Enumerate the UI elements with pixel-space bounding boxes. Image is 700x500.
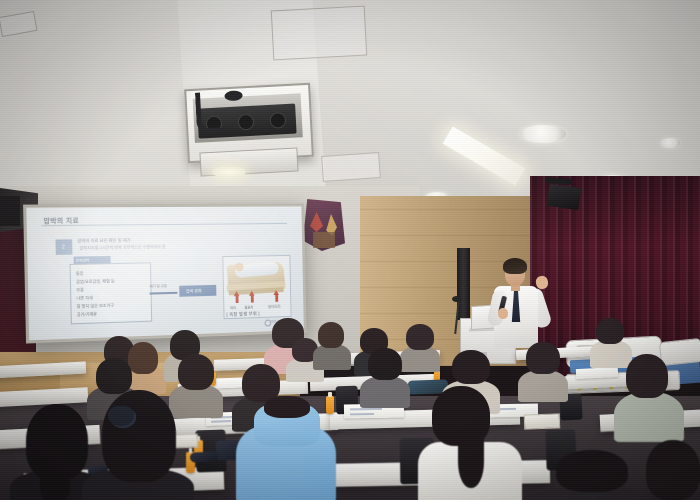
presenter-hair <box>503 258 527 274</box>
projector-cable <box>195 91 226 133</box>
microphone-icon <box>452 296 461 302</box>
wall-speaker-right-icon <box>547 184 582 210</box>
presenter-mic-hand <box>498 308 508 319</box>
access-panel <box>321 152 381 182</box>
lecture-hall-photo: 압박의 치료 2 압박의 치료 요인 확인 및 제거 압박지속을 2시간씩 반복… <box>0 0 700 500</box>
projection-screen-surface: 압박의 치료 2 압박의 치료 요인 확인 및 제거 압박지속을 2시간씩 반복… <box>26 206 304 340</box>
wall-decoration-detail <box>313 232 335 248</box>
bed-footboard <box>659 338 700 366</box>
column-speaker <box>457 248 470 320</box>
downlight <box>520 125 566 143</box>
ponytail <box>458 434 484 488</box>
screen-light-glow <box>26 206 304 340</box>
lunch-box <box>174 434 198 449</box>
ponytail <box>40 470 70 500</box>
orange-juice-bottle <box>326 396 334 414</box>
lunch-box <box>524 413 561 429</box>
projector-downlight <box>212 166 246 178</box>
projector-lens <box>238 114 255 131</box>
projection-screen: 압박의 치료 2 압박의 치료 요인 확인 및 제거 압박지속을 2시간씩 반복… <box>23 203 307 343</box>
wallet-pouch <box>190 451 218 462</box>
access-panel <box>271 6 367 61</box>
downlight <box>660 138 680 148</box>
projector-lens <box>270 112 287 129</box>
hair-bow-accessory <box>108 406 134 426</box>
wall-speaker-left-body <box>0 196 20 226</box>
